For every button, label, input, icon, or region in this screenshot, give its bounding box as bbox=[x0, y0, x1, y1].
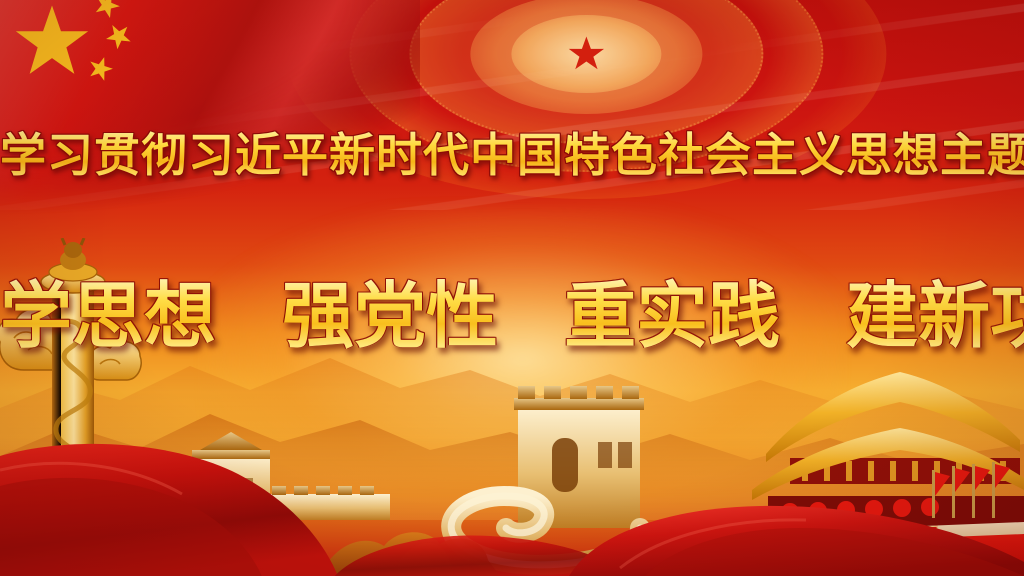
slogan-part-3: 重实践 bbox=[564, 277, 780, 357]
slogan-part-2: 强党性 bbox=[282, 277, 498, 357]
poster-slogan: 学思想 强党性 重实践 建新功 bbox=[0, 274, 1024, 360]
banner-right-slogan: 世界人民大团结万岁 bbox=[818, 526, 939, 546]
banner-left-slogan: 中华人民共和国万岁 bbox=[730, 539, 809, 556]
propaganda-poster: 中华人民共和国万岁 世界人民大团结万岁 bbox=[0, 0, 1024, 576]
great-wall bbox=[170, 346, 710, 576]
gate-portrait-frame bbox=[798, 528, 817, 555]
slogan-part-4: 建新功 bbox=[846, 277, 1024, 357]
poster-headline: 学习贯彻习近平新时代中国特色社会主义思想主题教育 bbox=[0, 126, 1024, 184]
slogan-part-1: 学思想 bbox=[0, 277, 216, 357]
flag-big-star-icon bbox=[14, 4, 90, 80]
wall-tower-left bbox=[192, 432, 390, 522]
